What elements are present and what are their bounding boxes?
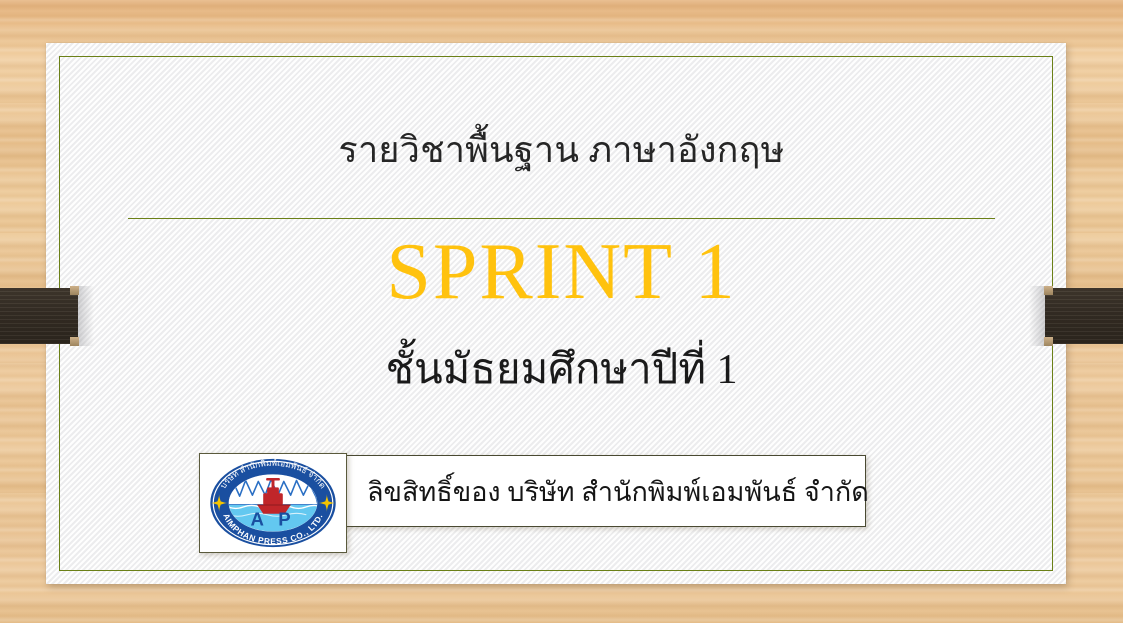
left-binder-clip	[0, 288, 78, 344]
right-clip-shadow	[1029, 286, 1045, 346]
left-clip-tab-top	[70, 286, 79, 295]
right-clip-tab-bottom	[1044, 337, 1053, 346]
page-title: SPRINT 1	[0, 228, 1123, 316]
grade-level-line: ชั้นมัธยมศึกษาปีที่ 1	[0, 344, 1123, 397]
copyright-text: ลิขสิทธิ์ของ บริษัท สำนักพิมพ์เอมพันธ์ จ…	[367, 470, 869, 513]
title-divider	[128, 218, 995, 219]
aimphan-press-logo-icon: A P บริษัท สำนักพิมพ์เอมพันธ์ จำกัด AIMP…	[200, 454, 346, 552]
left-clip-shadow	[78, 286, 94, 346]
right-binder-clip	[1045, 288, 1123, 344]
aimphan-press-logo: A P บริษัท สำนักพิมพ์เอมพันธ์ จำกัด AIMP…	[199, 453, 347, 553]
left-clip-tab-bottom	[70, 337, 79, 346]
right-clip-tab-top	[1044, 286, 1053, 295]
logo-initials: A P	[250, 509, 295, 530]
subject-line: รายวิชาพื้นฐาน ภาษาอังกฤษ	[0, 128, 1123, 173]
